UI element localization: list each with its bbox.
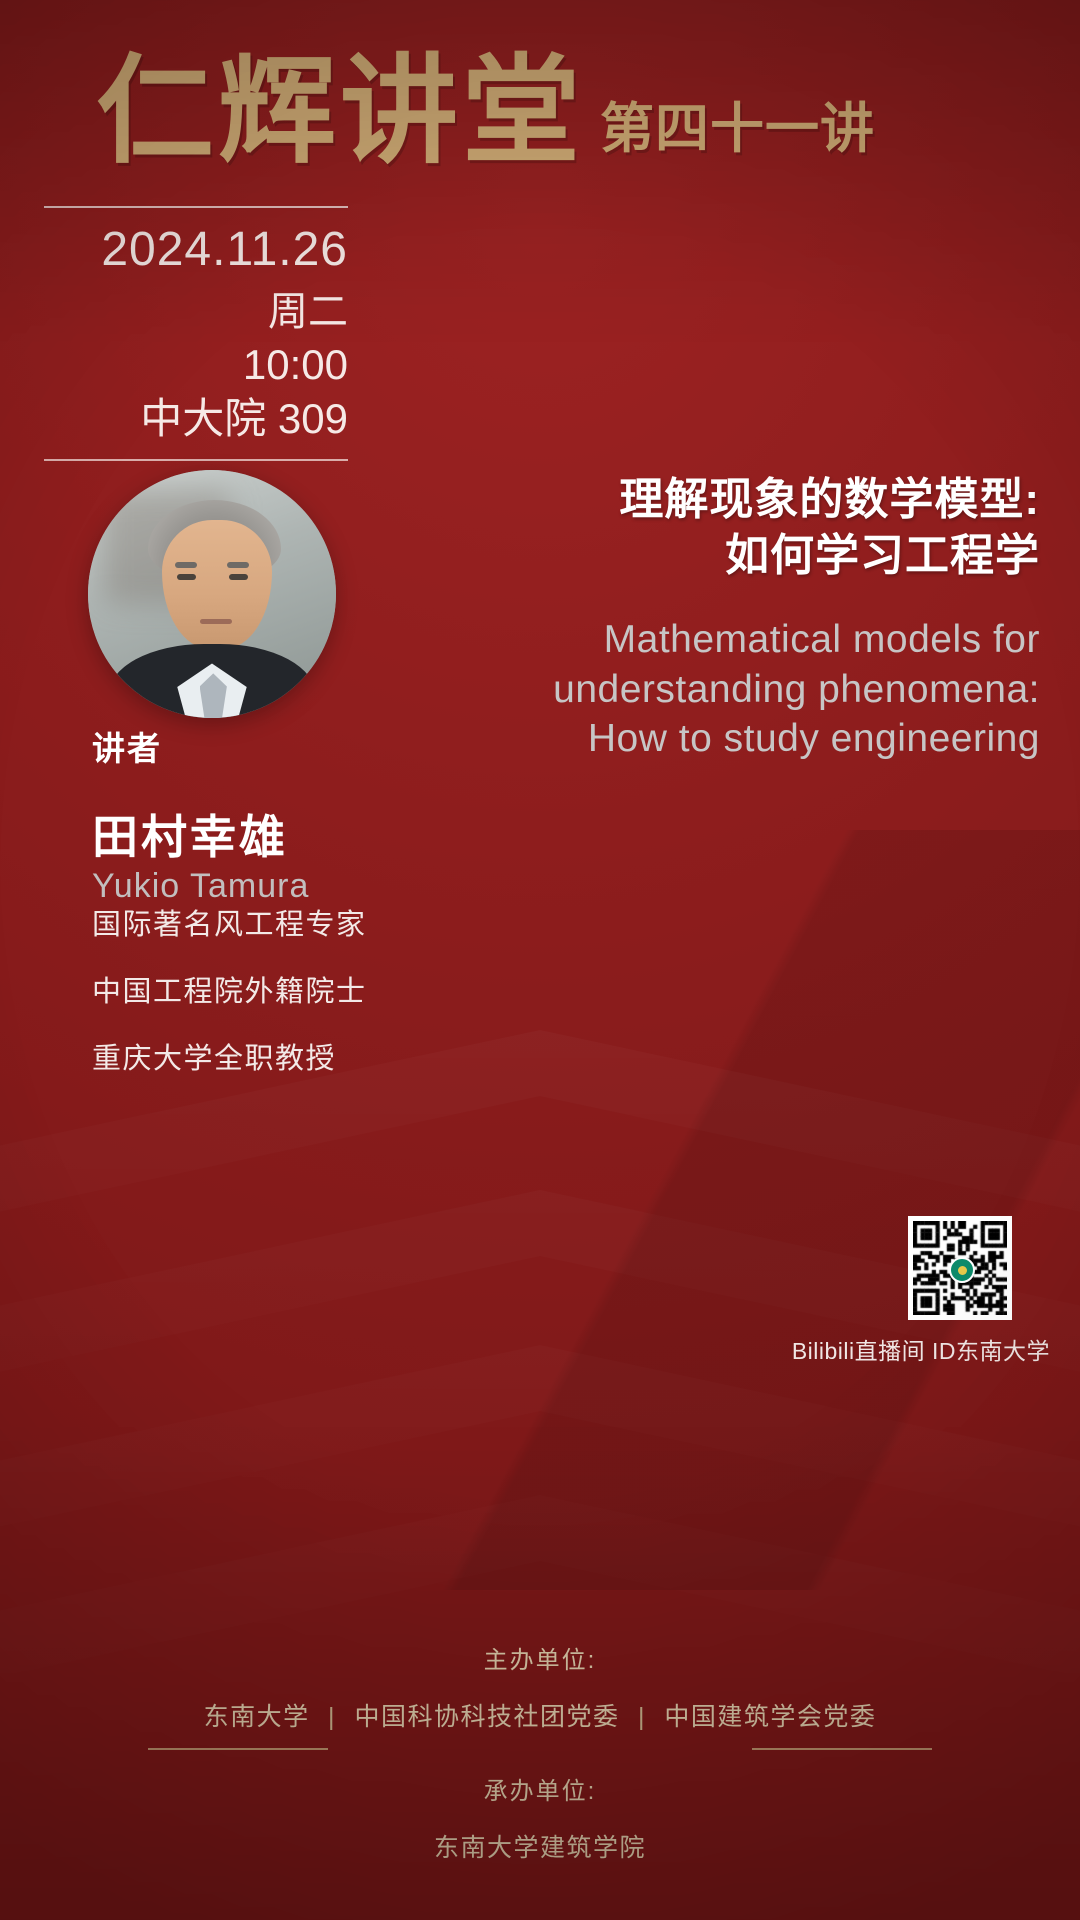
credential-item: 中国工程院外籍院士 xyxy=(92,975,512,1010)
portrait-eye-left xyxy=(177,574,196,579)
talk-title-cn-line1: 理解现象的数学模型: xyxy=(360,472,1040,528)
talk-title-en-line2: understanding phenomena: xyxy=(360,665,1040,715)
speaker-name-en: Yukio Tamura xyxy=(92,867,422,906)
session-number: 第四十一讲 xyxy=(600,102,875,156)
event-time: 10:00 xyxy=(44,337,348,391)
portrait-brow-right xyxy=(227,562,249,568)
host-separator: | xyxy=(638,1703,646,1731)
event-date: 2024.11.26 xyxy=(44,208,348,281)
schedule-block: 2024.11.26 周二 10:00 中大院 309 xyxy=(44,206,348,461)
speaker-name-cn: 田村幸雄 xyxy=(92,812,422,863)
talk-title-block: 理解现象的数学模型: 如何学习工程学 Mathematical models f… xyxy=(360,472,1040,764)
poster-header: 仁辉讲堂 第四十一讲 xyxy=(96,52,1050,170)
speaker-label: 讲者 xyxy=(92,722,422,770)
portrait-brow-left xyxy=(175,562,197,568)
speaker-credentials: 国际著名风工程专家 中国工程院外籍院士 重庆大学全职教授 xyxy=(92,908,512,1108)
talk-title-cn: 理解现象的数学模型: 如何学习工程学 xyxy=(360,472,1040,585)
qr-code-image[interactable] xyxy=(908,1216,1012,1320)
host-separator: | xyxy=(328,1703,336,1731)
event-venue: 中大院 309 xyxy=(44,391,348,459)
poster-canvas: 仁辉讲堂 第四十一讲 2024.11.26 周二 10:00 中大院 309 理… xyxy=(0,0,1080,1920)
qr-code-block[interactable] xyxy=(908,1216,1012,1320)
schedule-rule-bottom xyxy=(44,459,348,461)
portrait-eye-right xyxy=(229,574,248,579)
host-org: 中国建筑学会党委 xyxy=(664,1703,876,1731)
chevron-stripe xyxy=(0,1345,1080,1675)
talk-title-en-line3: How to study engineering xyxy=(360,714,1040,764)
event-weekday: 周二 xyxy=(44,281,348,337)
organizer-label: 承办单位: xyxy=(0,1771,1080,1806)
speaker-portrait xyxy=(88,470,336,718)
poster-footer: 主办单位: 东南大学 | 中国科协科技社团党委 | 中国建筑学会党委 承办单位:… xyxy=(0,1640,1080,1864)
host-organizations: 东南大学 | 中国科协科技社团党委 | 中国建筑学会党委 xyxy=(0,1697,1080,1733)
brand-title: 仁辉讲堂 xyxy=(96,52,584,170)
host-org: 东南大学 xyxy=(204,1703,310,1731)
talk-title-en: Mathematical models for understanding ph… xyxy=(360,615,1040,765)
credential-item: 国际著名风工程专家 xyxy=(92,908,512,943)
talk-title-en-line1: Mathematical models for xyxy=(360,615,1040,665)
portrait-face xyxy=(162,520,271,649)
talk-title-cn-line2: 如何学习工程学 xyxy=(360,528,1040,584)
live-stream-caption: Bilibili直播间 ID东南大学 xyxy=(792,1332,1050,1366)
speaker-block: 讲者 田村幸雄 Yukio Tamura xyxy=(92,722,422,906)
host-label: 主办单位: xyxy=(0,1640,1080,1675)
organizer-name: 东南大学建筑学院 xyxy=(0,1828,1080,1864)
credential-item: 重庆大学全职教授 xyxy=(92,1042,512,1077)
portrait-mouth xyxy=(200,619,232,624)
host-org: 中国科协科技社团党委 xyxy=(354,1703,619,1731)
qr-center-logo-icon xyxy=(949,1257,975,1283)
